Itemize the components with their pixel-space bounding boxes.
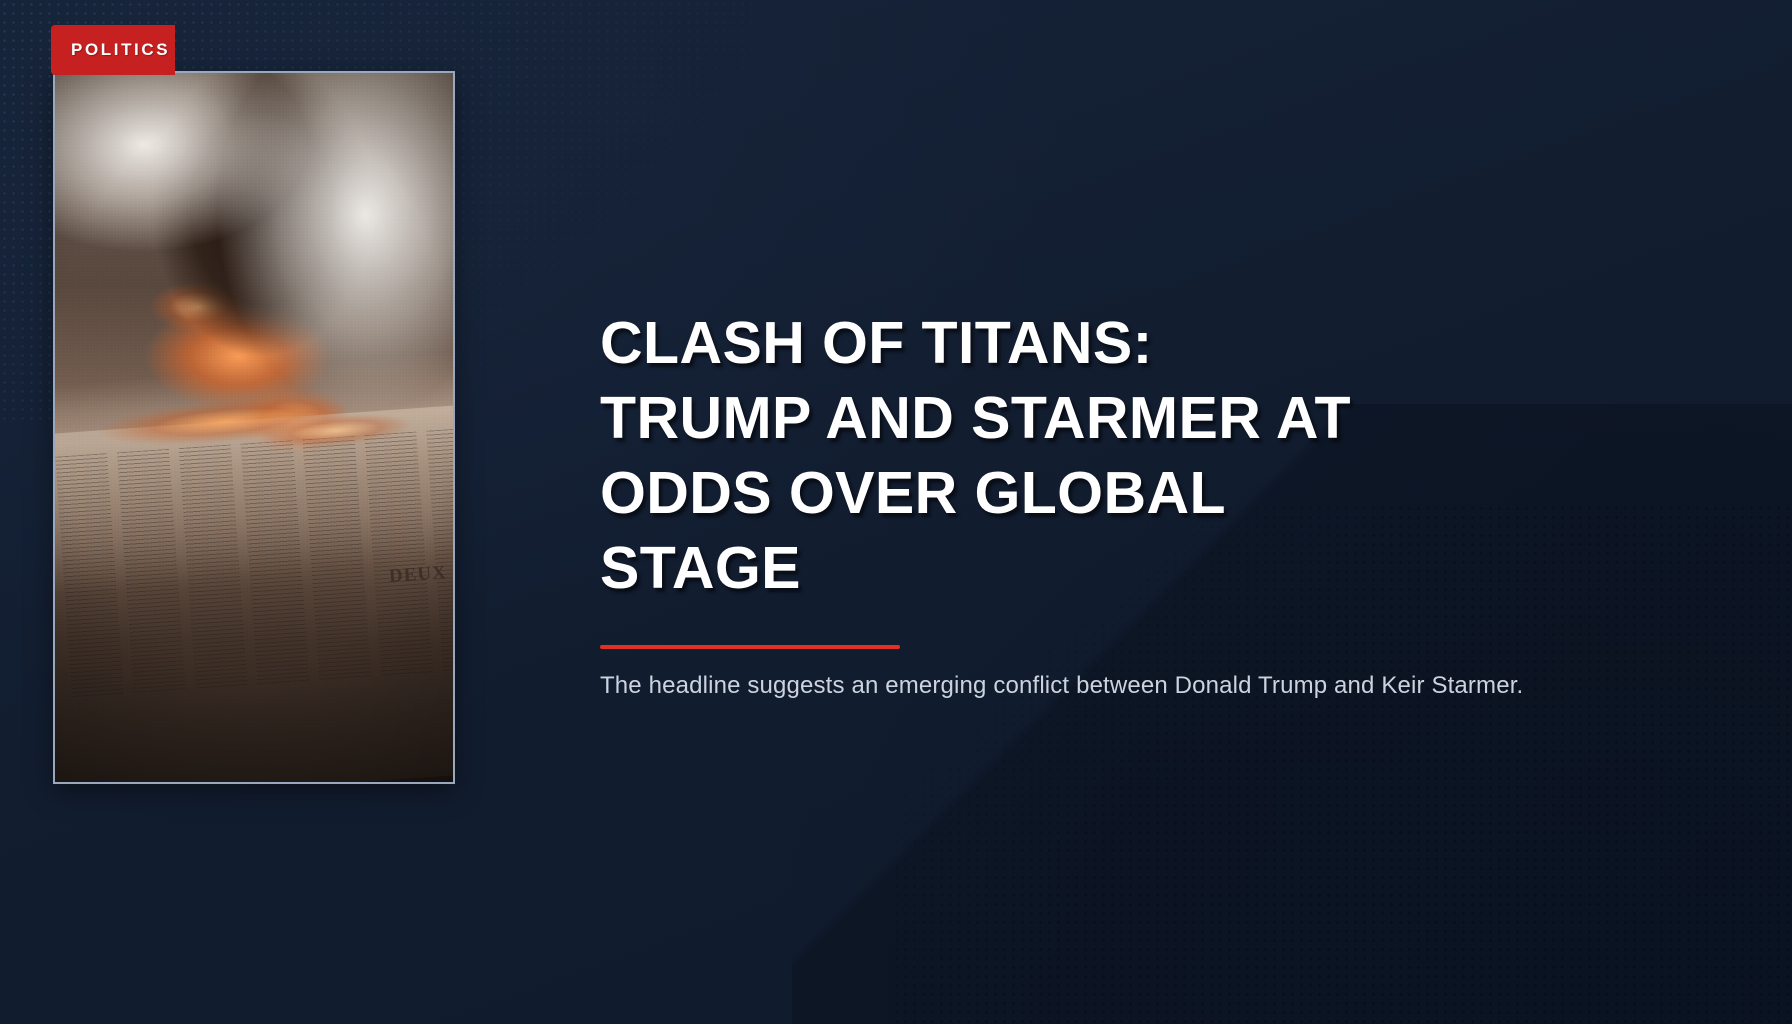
photo-vignette bbox=[55, 73, 453, 782]
headline-line-1: CLASH OF TITANS: bbox=[600, 306, 1560, 381]
headline-line-2: TRUMP AND STARMER AT bbox=[600, 381, 1560, 456]
headline-line-3: ODDS OVER GLOBAL bbox=[600, 456, 1560, 531]
article-subtitle: The headline suggests an emerging confli… bbox=[600, 670, 1610, 702]
newspaper-headline-text: DEUX bbox=[388, 562, 447, 588]
page-title: CLASH OF TITANS: TRUMP AND STARMER AT OD… bbox=[600, 306, 1560, 606]
category-badge[interactable]: POLITICS bbox=[51, 25, 175, 75]
article-image-card[interactable]: DEUX bbox=[53, 71, 455, 784]
accent-divider bbox=[600, 645, 900, 649]
category-badge-container: POLITICS bbox=[51, 25, 175, 75]
headline-line-4: STAGE bbox=[600, 531, 1560, 606]
article-text-column: CLASH OF TITANS: TRUMP AND STARMER AT OD… bbox=[600, 0, 1720, 1024]
news-slide: POLITICS DEUX CLASH OF TITANS: TRUMP AND… bbox=[0, 0, 1792, 1024]
